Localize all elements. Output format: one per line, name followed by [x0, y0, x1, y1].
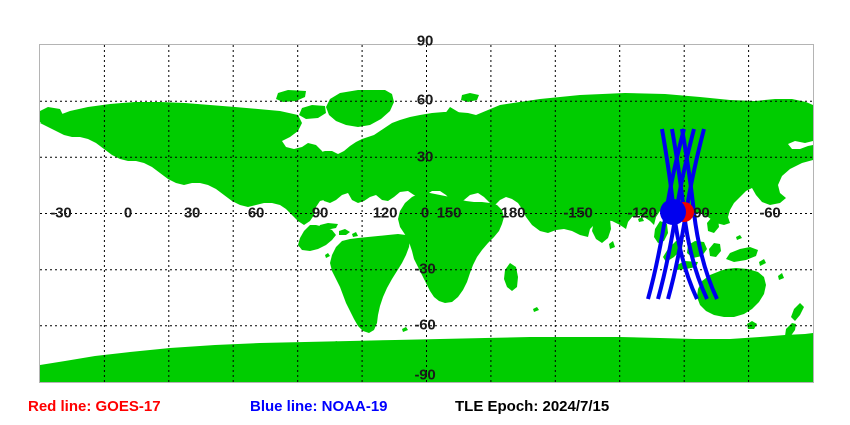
lon-label-90: 90 — [312, 206, 328, 221]
lon-label-60: 60 — [248, 206, 264, 221]
legend-goes17: Red line: GOES-17 — [28, 399, 161, 414]
lon-label--60: -60 — [759, 206, 780, 221]
lon-label--120: -120 — [627, 206, 656, 221]
lat-label-30: 30 — [417, 150, 433, 165]
noaa19-position-marker[interactable] — [660, 199, 686, 225]
lon-label--30: -30 — [50, 206, 71, 221]
lon-label-150: 150 — [437, 206, 461, 221]
lat-label-60: 60 — [417, 93, 433, 108]
lat-label--60: -60 — [414, 318, 435, 333]
lat-label-0: 0 — [421, 206, 429, 221]
lat-label-90: 90 — [417, 34, 433, 49]
lon-label-120: 120 — [373, 206, 397, 221]
lon-label-180: 180 — [501, 206, 525, 221]
lon-label-0: 0 — [124, 206, 132, 221]
legend-noaa19: Blue line: NOAA-19 — [250, 399, 388, 414]
lon-label--150: -150 — [563, 206, 592, 221]
lat-label--90: -90 — [414, 368, 435, 383]
legend-tle-epoch: TLE Epoch: 2024/7/15 — [455, 399, 609, 414]
lat-label--30: -30 — [414, 262, 435, 277]
lon-label-30: 30 — [184, 206, 200, 221]
satellite-ground-track-map: 90 60 30 0 -30 -60 -90 -30 0 30 60 90 12… — [0, 0, 850, 425]
legend-bar: Red line: GOES-17 Blue line: NOAA-19 TLE… — [0, 392, 850, 422]
